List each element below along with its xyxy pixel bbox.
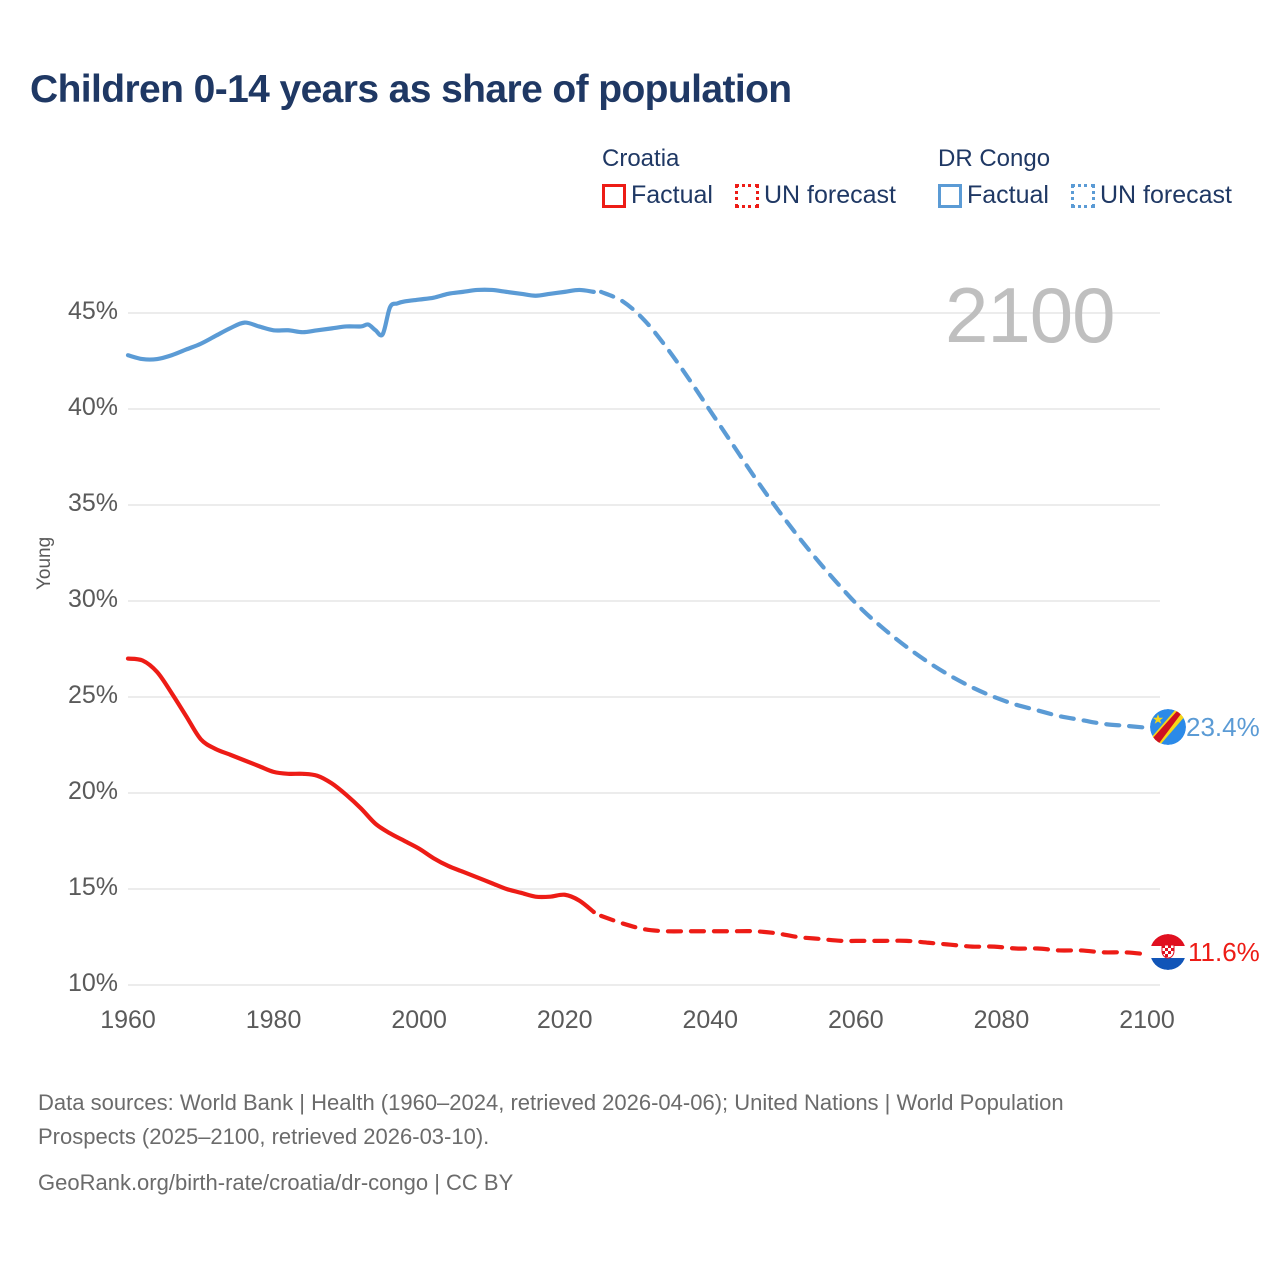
x-axis-tick-2040: 2040 xyxy=(650,1006,770,1035)
x-axis-tick-2020: 2020 xyxy=(505,1006,625,1035)
x-axis-tick-2060: 2060 xyxy=(796,1006,916,1035)
flag-marker-dr-congo xyxy=(1150,709,1186,745)
year-watermark: 2100 xyxy=(945,270,1115,361)
x-axis-tick-2100: 2100 xyxy=(1087,1006,1207,1035)
dr-congo-flag-icon xyxy=(1150,709,1186,745)
x-axis-tick-2000: 2000 xyxy=(359,1006,479,1035)
y-axis-tick-20: 20% xyxy=(0,777,118,806)
croatia-flag-icon xyxy=(1150,934,1186,970)
footer-data-sources: Data sources: World Bank | Health (1960–… xyxy=(38,1086,1158,1154)
end-value-dr-congo: 23.4% xyxy=(1186,712,1260,743)
end-value-croatia: 11.6% xyxy=(1188,937,1260,968)
series-line-croatia-un-forecast xyxy=(601,916,1147,954)
x-axis-tick-2080: 2080 xyxy=(941,1006,1061,1035)
y-axis-tick-40: 40% xyxy=(0,393,118,422)
series-line-dr-congo-factual xyxy=(128,290,594,360)
y-axis-tick-35: 35% xyxy=(0,489,118,518)
x-axis-tick-1960: 1960 xyxy=(68,1006,188,1035)
footer-attribution: GeoRank.org/birth-rate/croatia/dr-congo … xyxy=(38,1166,513,1200)
y-axis-tick-10: 10% xyxy=(0,969,118,998)
y-axis-tick-30: 30% xyxy=(0,585,118,614)
y-axis-tick-25: 25% xyxy=(0,681,118,710)
x-axis-tick-1980: 1980 xyxy=(214,1006,334,1035)
flag-marker-croatia xyxy=(1150,934,1186,970)
y-axis-tick-15: 15% xyxy=(0,873,118,902)
y-axis-tick-45: 45% xyxy=(0,297,118,326)
